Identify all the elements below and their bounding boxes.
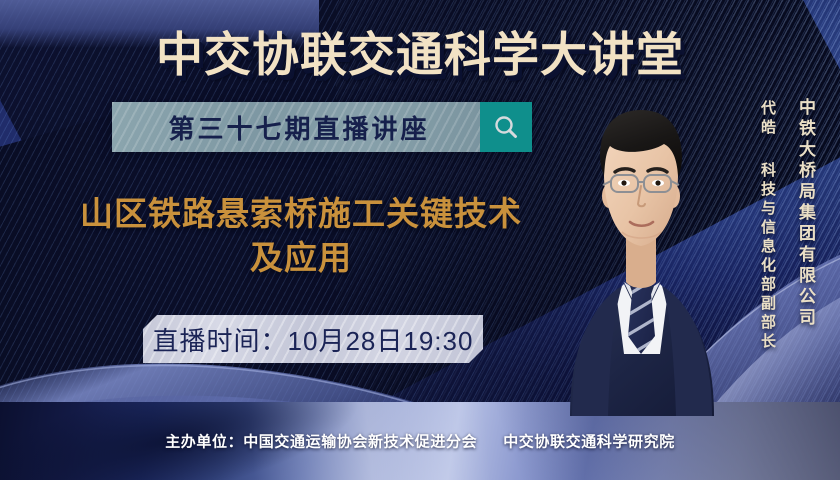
series-banner-bar: 第三十七期直播讲座: [112, 102, 480, 152]
speaker-portrait: [556, 86, 726, 416]
page-title: 中交协联交通科学大讲堂: [0, 16, 840, 85]
lecture-title: 山区铁路悬索桥施工关键技术 及应用: [36, 192, 566, 279]
livestream-poster: 中交协联交通科学大讲堂 第三十七期直播讲座 山区铁路悬索桥施工关键技术 及应用 …: [0, 0, 840, 480]
time-badge-label: 直播时间：10月28日19:30: [153, 321, 474, 358]
speaker-role: 科技与信息化部副部长: [757, 162, 778, 352]
search-icon: [492, 113, 520, 141]
series-banner: 第三十七期直播讲座: [112, 102, 532, 152]
time-badge: 直播时间：10月28日19:30: [143, 315, 483, 363]
speaker-company: 中铁大桥局集团有限公司: [793, 98, 818, 329]
search-button[interactable]: [480, 102, 532, 152]
series-banner-label: 第三十七期直播讲座: [162, 109, 429, 146]
speaker-name: 代皓: [757, 100, 778, 138]
footer-organizer-secondary: 中交协联交通科学研究院: [503, 434, 675, 451]
lecture-title-line2: 及应用: [36, 236, 566, 280]
lecture-title-line1: 山区铁路悬索桥施工关键技术: [80, 195, 522, 232]
footer-organizer-primary: 主办单位：中国交通运输协会新技术促进分会: [165, 434, 477, 451]
footer-organizers: 主办单位：中国交通运输协会新技术促进分会中交协联交通科学研究院: [0, 431, 840, 452]
